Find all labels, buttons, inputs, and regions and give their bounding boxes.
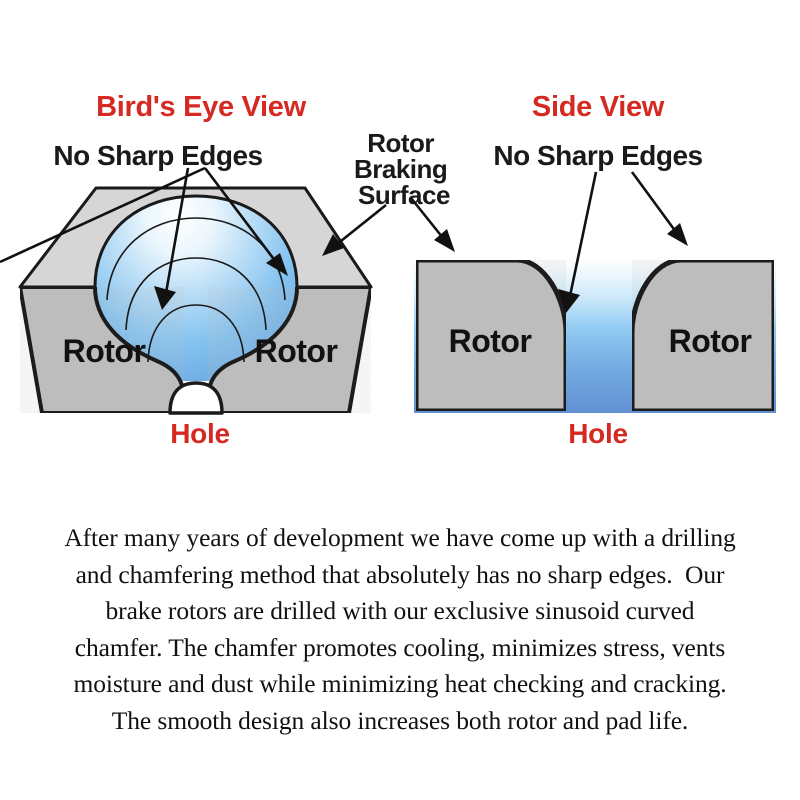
paragraph-line-1: After many years of development we have … [0,520,800,557]
side-view-title: Side View [532,91,665,123]
paragraph-line-3: brake rotors are drilled with our exclus… [0,593,800,630]
paragraph-line-4: chamfer. The chamfer promotes cooling, m… [0,630,800,667]
side-rotor-label-right: Rotor [669,323,752,359]
hole-opening-bottom [170,383,222,413]
side-view-group: Side View No Sharp Edges Rotor Rotor Hol… [411,91,776,449]
rotor-label-right: Rotor [255,333,338,369]
rotor-chamfer-diagram: Rotor Rotor Bird's Eye View No Sharp Edg… [0,0,800,470]
no-sharp-edges-label-left: No Sharp Edges [53,140,262,171]
description-paragraph: After many years of development we have … [0,520,800,739]
hole-label-left: Hole [170,418,229,449]
diagram-page: Rotor Rotor Bird's Eye View No Sharp Edg… [0,0,800,800]
hole-label-right: Hole [568,418,627,449]
arrow-icon-no-sharp-edges-right-outer [632,172,688,246]
braking-surface-line-3: Surface [358,180,450,210]
paragraph-line-6: The smooth design also increases both ro… [0,703,800,740]
rotor-label-left: Rotor [63,333,146,369]
birds-eye-view-title: Bird's Eye View [96,91,307,123]
side-rotor-label-left: Rotor [449,323,532,359]
braking-surface-label: Rotor Braking Surface [354,128,454,210]
paragraph-line-2: and chamfering method that absolutely ha… [0,557,800,594]
birds-eye-view-group: Rotor Rotor Bird's Eye View No Sharp Edg… [0,91,454,449]
no-sharp-edges-label-right: No Sharp Edges [493,140,702,171]
paragraph-line-5: moisture and dust while minimizing heat … [0,666,800,703]
